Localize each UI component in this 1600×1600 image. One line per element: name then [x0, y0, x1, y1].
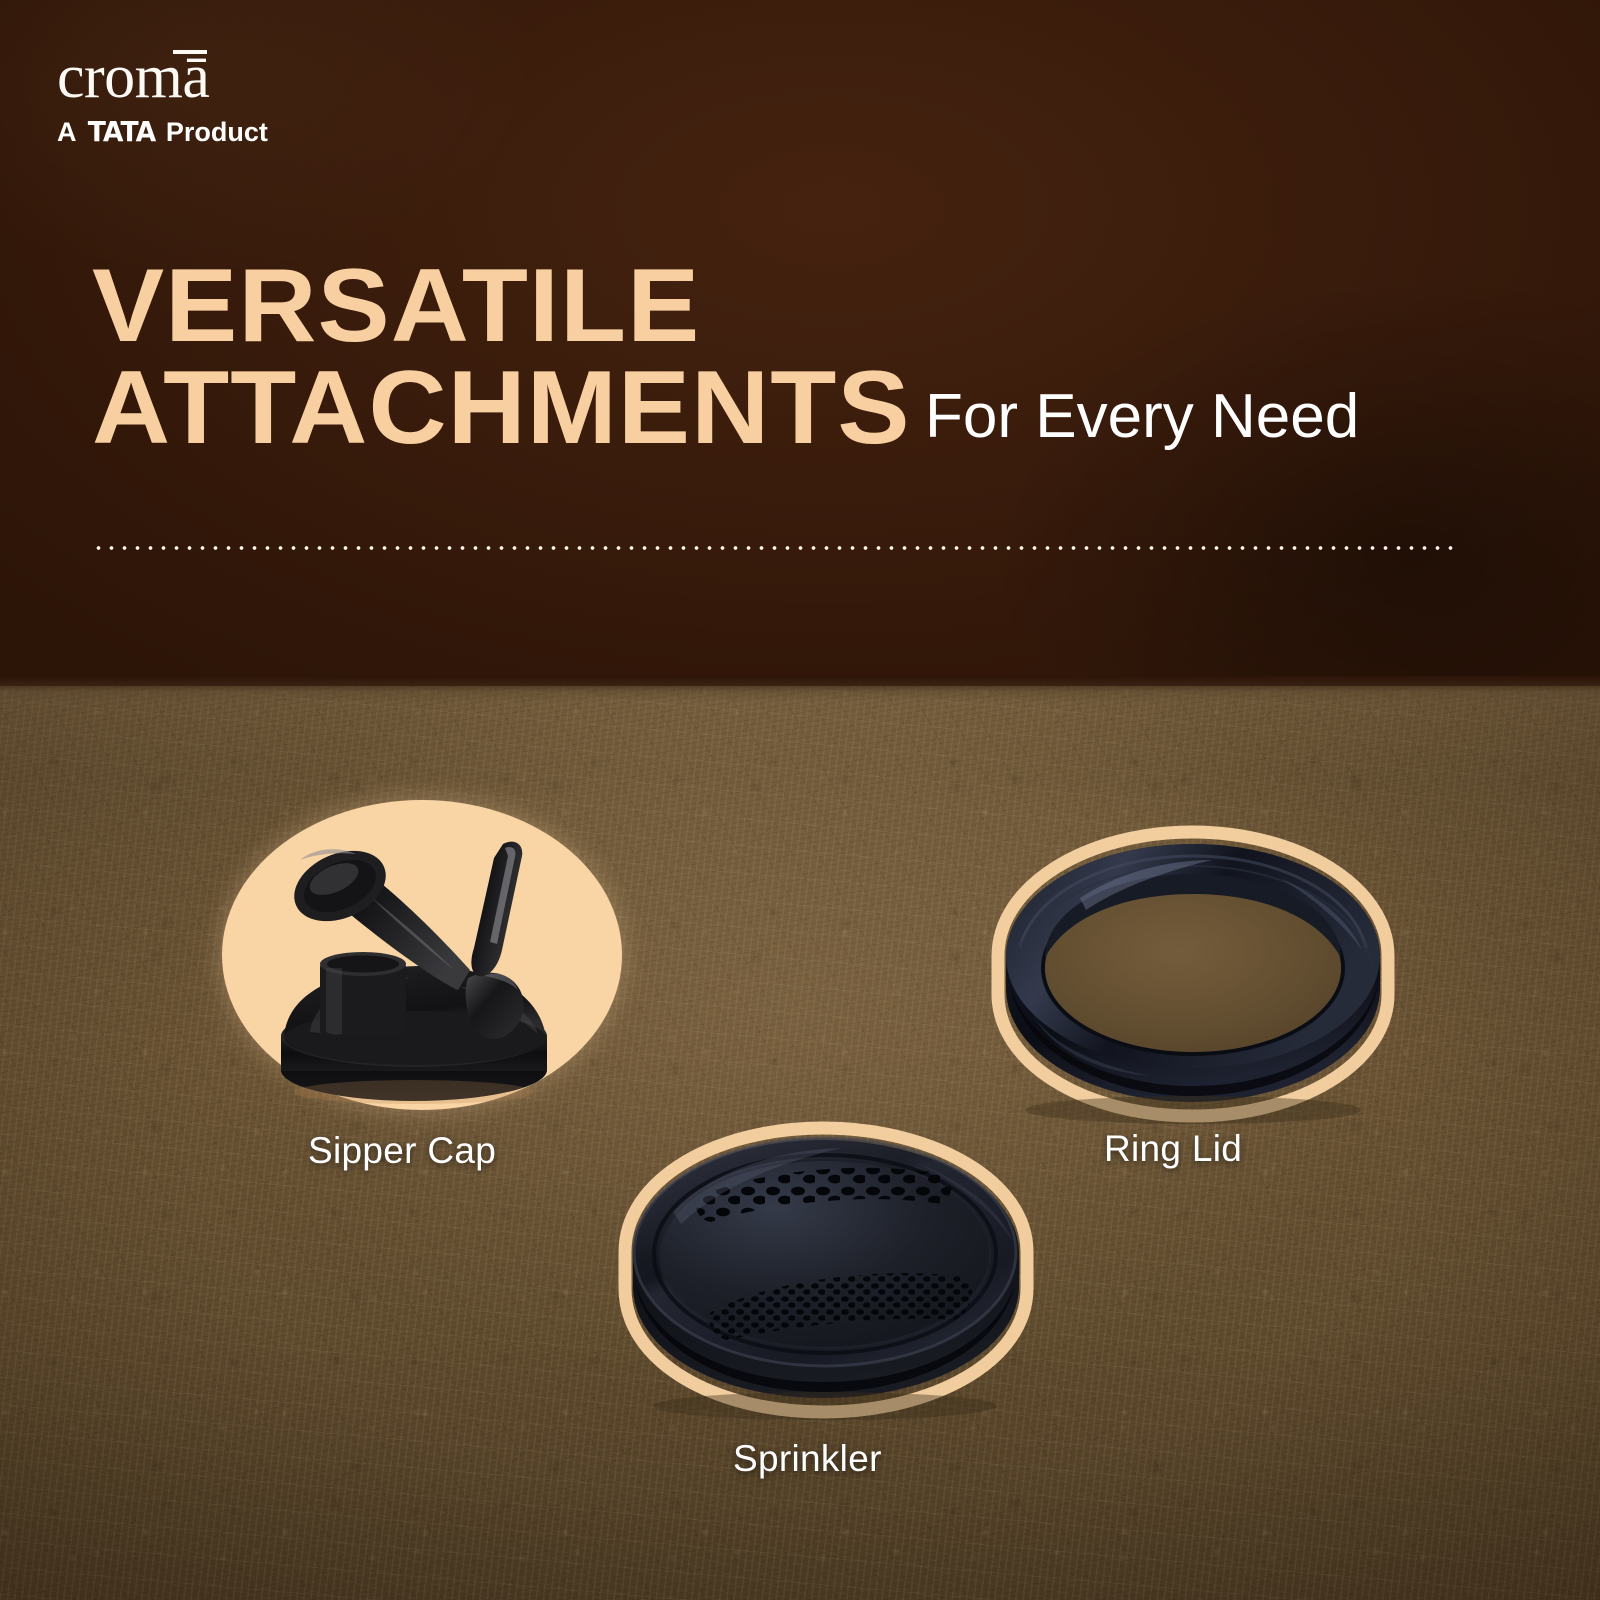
sprinkler-image [615, 1100, 1035, 1430]
surface-edge-blend [0, 676, 1600, 702]
tata-wordmark: TATA [88, 115, 155, 148]
macron-accent [173, 50, 207, 54]
product-ring-lid: Ring Lid [980, 798, 1405, 1128]
dotted-divider [92, 545, 1456, 551]
sipper-cap-image [222, 800, 622, 1110]
marketing-banner: cromā A TATA Product VERSATILE ATTACHMEN… [0, 0, 1600, 1600]
ring-lid-image [980, 798, 1405, 1128]
headline-line-2: ATTACHMENTS [92, 358, 911, 460]
tagline-suffix: Product [166, 117, 268, 148]
caption-sipper-cap: Sipper Cap [308, 1130, 496, 1172]
product-sipper-cap: Sipper Cap [222, 800, 622, 1110]
croma-logo: cromā A TATA Product [57, 46, 268, 148]
brand-tagline: A TATA Product [57, 115, 268, 148]
caption-ring-lid: Ring Lid [1104, 1128, 1242, 1170]
headline-row-2: ATTACHMENTS For Every Need [92, 358, 1512, 460]
headline-block: VERSATILE ATTACHMENTS For Every Need [92, 256, 1512, 460]
headline-subtitle: For Every Need [925, 386, 1359, 448]
caption-sprinkler: Sprinkler [733, 1438, 882, 1480]
product-sprinkler: Sprinkler [615, 1100, 1035, 1430]
tagline-prefix: A [57, 117, 77, 148]
brand-wordmark: cromā [57, 46, 209, 108]
headline-line-1: VERSATILE [92, 256, 1569, 358]
